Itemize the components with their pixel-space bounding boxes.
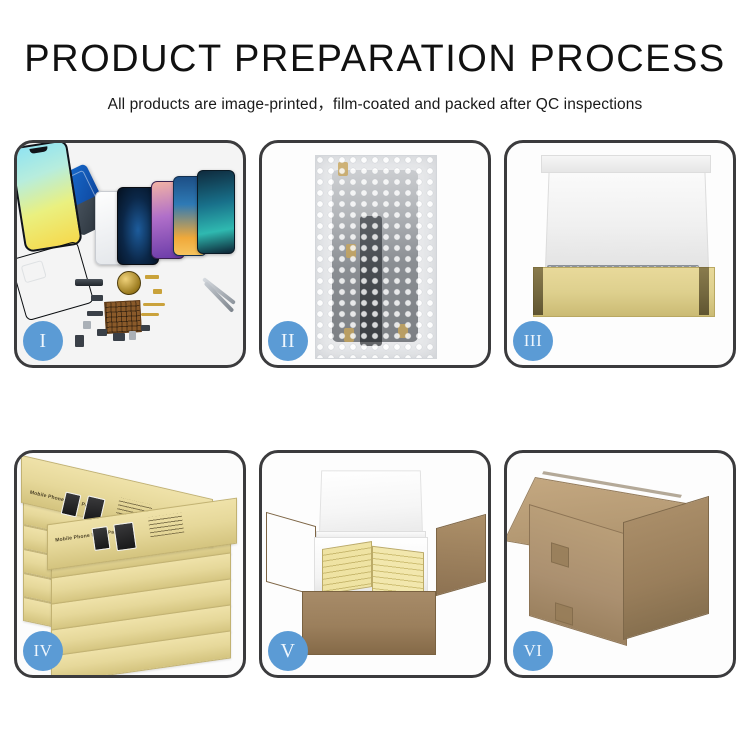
small-part xyxy=(153,289,162,294)
small-part xyxy=(97,329,107,336)
step-badge-6: VI xyxy=(513,631,553,671)
process-step-5[interactable]: V xyxy=(259,450,491,678)
small-part xyxy=(75,335,84,347)
kraft-box-body xyxy=(533,267,715,317)
small-part xyxy=(83,321,91,329)
box-corner-right xyxy=(699,267,709,315)
page-subtitle: All products are image-printed，film-coat… xyxy=(0,92,750,114)
process-step-6[interactable]: VI xyxy=(504,450,736,678)
wrapped-flex-strip xyxy=(360,216,382,346)
tape-tab xyxy=(338,162,348,176)
small-part xyxy=(113,333,125,341)
step-badge-2: II xyxy=(268,321,308,361)
box-print-phone-image xyxy=(113,522,137,552)
small-part xyxy=(145,275,159,279)
process-step-grid: I II III xyxy=(14,140,736,678)
small-part xyxy=(129,331,136,340)
tape-tab xyxy=(346,244,356,258)
process-step-4[interactable]: Mobile Phone Spare Parts Mobile Phone Sp… xyxy=(14,450,246,678)
carton-flap-left xyxy=(266,512,316,596)
tape-tab xyxy=(398,324,408,338)
carton-front-panel xyxy=(302,591,436,655)
process-step-2[interactable]: II xyxy=(259,140,491,368)
earpiece-speaker-part xyxy=(75,279,103,286)
bubble-wrap-package xyxy=(315,155,437,359)
box-corner-left xyxy=(533,267,543,315)
box-lid-edge xyxy=(541,155,711,173)
speaker-module xyxy=(117,271,141,295)
display-assembly-teal xyxy=(197,170,235,254)
logic-board-part xyxy=(104,300,142,334)
tape-tab xyxy=(344,328,354,342)
box-lid-white xyxy=(545,159,709,272)
page-header: PRODUCT PREPARATION PROCESS All products… xyxy=(0,0,750,114)
small-part xyxy=(141,325,150,331)
step-badge-5: V xyxy=(268,631,308,671)
page-title: PRODUCT PREPARATION PROCESS xyxy=(0,40,750,78)
step-badge-3: III xyxy=(513,321,553,361)
front-phone-display xyxy=(17,143,83,253)
carton-flap-right xyxy=(436,514,486,596)
flex-cable-part xyxy=(143,303,165,306)
yellow-boxes-left xyxy=(322,541,372,595)
process-step-3[interactable]: III xyxy=(504,140,736,368)
process-step-1[interactable]: I xyxy=(14,140,246,368)
flex-cable-part xyxy=(141,313,159,316)
step-badge-4: IV xyxy=(23,631,63,671)
box-print-phone-image xyxy=(91,526,110,551)
small-part xyxy=(87,311,103,316)
small-part xyxy=(91,295,103,301)
step-badge-1: I xyxy=(23,321,63,361)
carton-right-panel xyxy=(623,496,709,640)
